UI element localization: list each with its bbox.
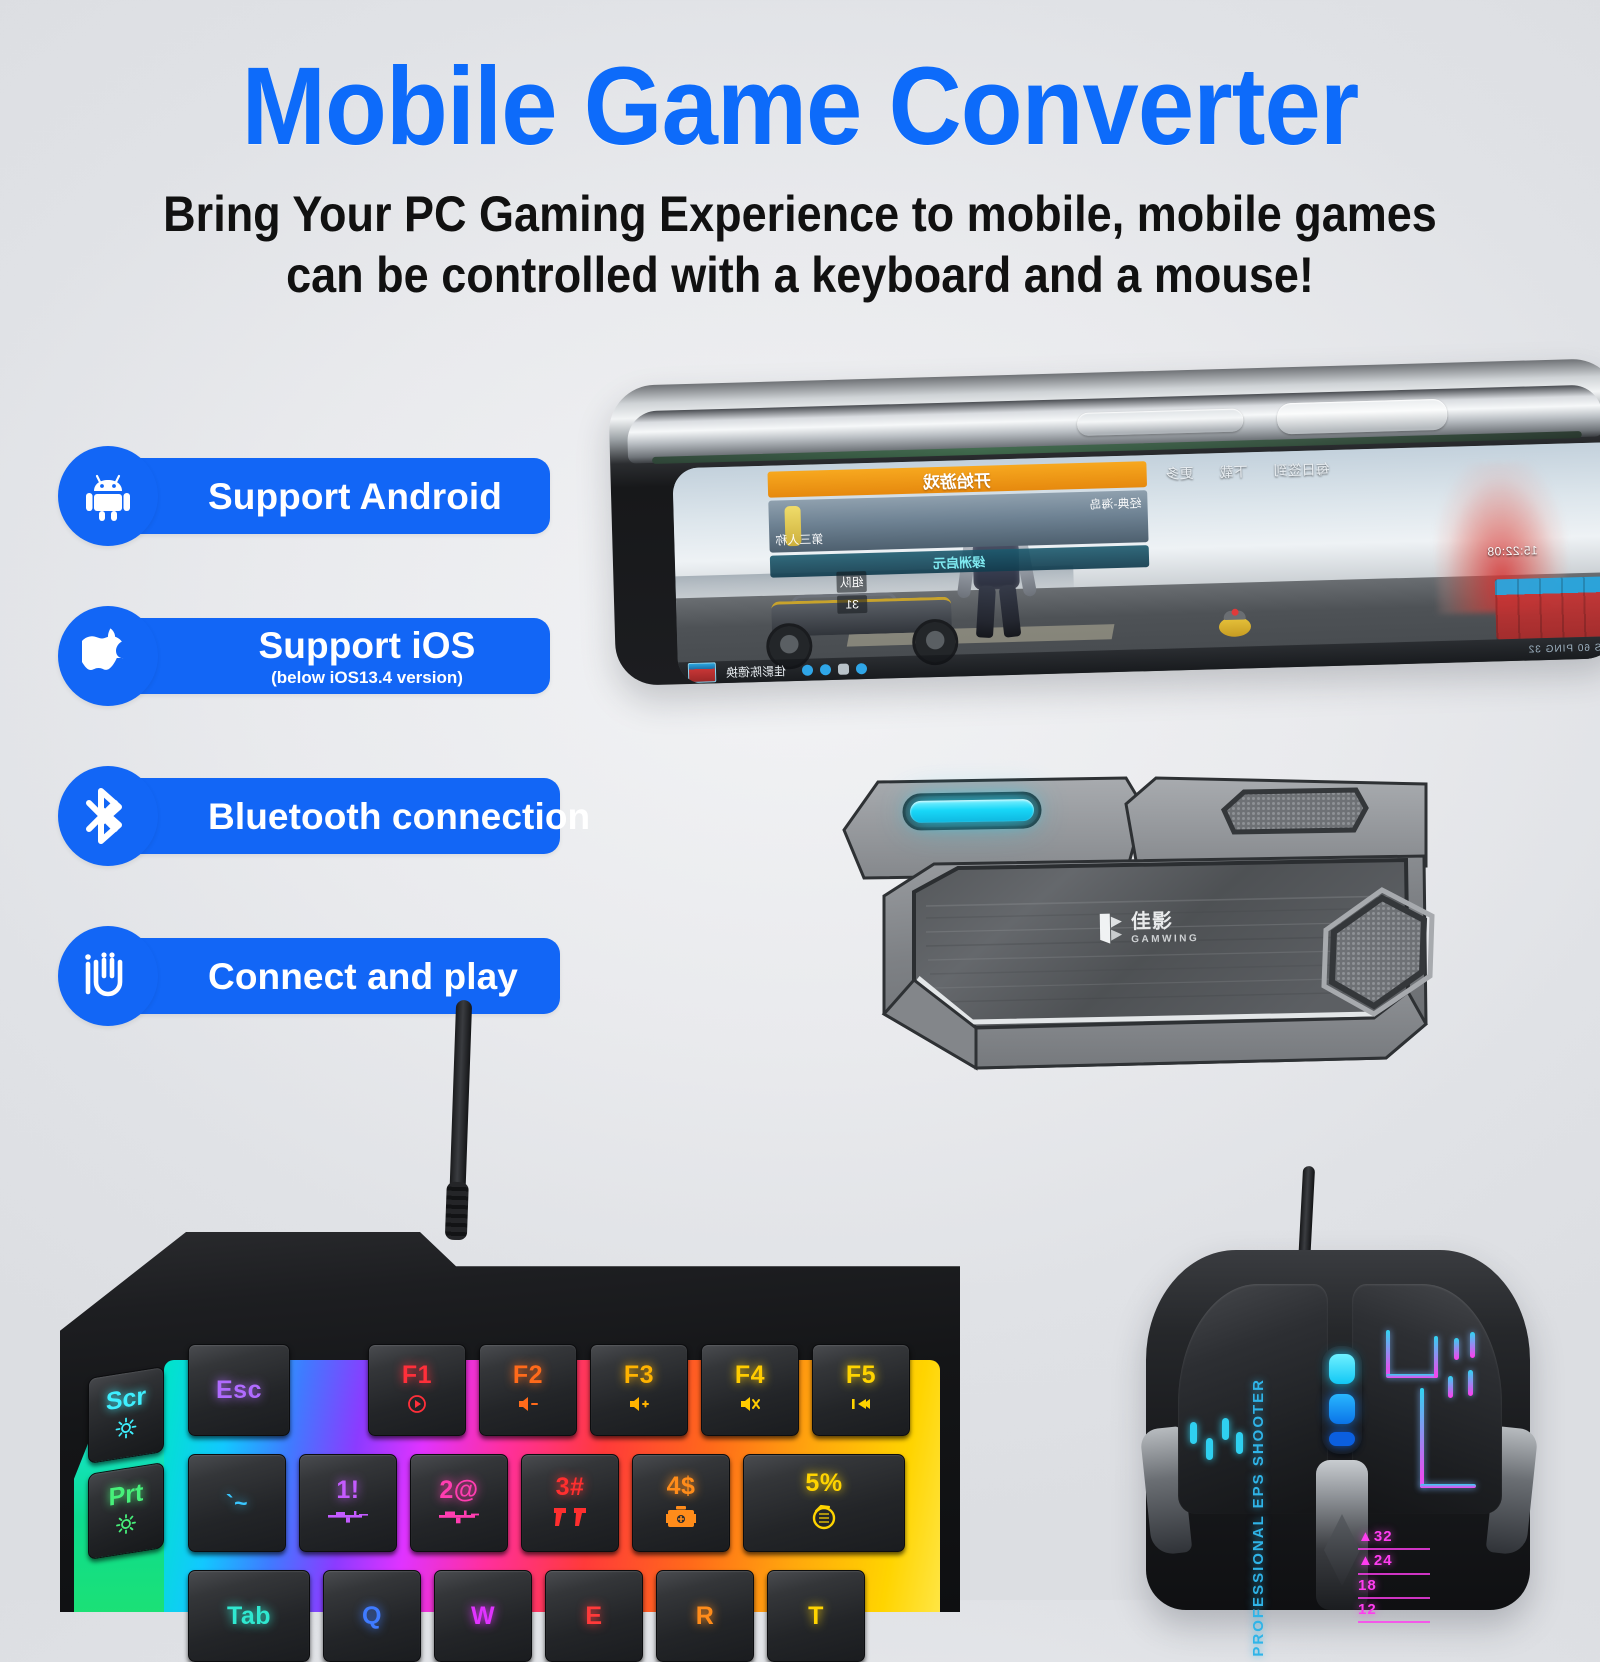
brightness-down-icon (115, 1511, 137, 1540)
game-lobby-panel[interactable]: 开始游戏 经典-海岛 第三人称 绿洲启元 (767, 462, 1149, 576)
phone-screen: 开始游戏 经典-海岛 第三人称 绿洲启元 更多 下载 (672, 442, 1600, 684)
hud-stats: FPS 60 PING 32 (1527, 642, 1600, 655)
key-label: F4 (735, 1363, 765, 1388)
pistols-icon (550, 1506, 590, 1532)
brand-name-zh: 佳影 (1131, 911, 1199, 932)
key-f3[interactable]: F3 (590, 1344, 688, 1436)
game-converter-device: 佳影 GAMWING (826, 756, 1436, 1106)
key-label: 1! (336, 1478, 359, 1503)
keyboard-row-letters: Tab Q W E R T (188, 1570, 865, 1662)
map-card[interactable]: 经典-海岛 第三人称 (768, 491, 1148, 554)
badge-sublabel: (below iOS13.4 version) (271, 669, 463, 686)
key-f1[interactable]: F1 (368, 1344, 466, 1436)
clan-crest-icon (688, 662, 717, 683)
rifle-icon (326, 1509, 370, 1529)
feature-badge-list: Support Android (58, 446, 578, 1086)
brightness-up-icon (115, 1415, 137, 1444)
keyboard-row-function: Esc F1 F2 F3 F4 (188, 1344, 910, 1436)
key-label: 4$ (667, 1474, 696, 1499)
badge-label: Bluetooth connection (208, 798, 534, 835)
key-r[interactable]: R (656, 1570, 754, 1662)
apple-icon (58, 606, 158, 706)
led-circuit-trace (1382, 1330, 1492, 1490)
volume-up-icon (627, 1394, 651, 1418)
dpi-level-18: 18 (1358, 1575, 1430, 1599)
key-gap (303, 1344, 355, 1436)
subtitle-line-1: Bring Your PC Gaming Experience to mobil… (134, 184, 1466, 245)
team-indicator: 组队 31 (836, 571, 867, 617)
start-game-label: 开始游戏 (923, 466, 992, 493)
key-e[interactable]: E (545, 1570, 643, 1662)
subtitle-line-2: can be controlled with a keyboard and a … (134, 245, 1466, 306)
nav-item-more[interactable]: 更多 (1165, 462, 1194, 483)
nav-item-daily-checkin[interactable]: 每日签到 (1273, 459, 1330, 481)
mute-icon (738, 1394, 762, 1418)
brand-name-en: GAMWING (1131, 934, 1199, 945)
dpi-level-12: 12 (1358, 1599, 1430, 1623)
key-label: Esc (216, 1378, 262, 1403)
key-label: 2@ (439, 1478, 478, 1503)
key-label: Tab (227, 1604, 271, 1629)
nav-item-download[interactable]: 下载 (1219, 461, 1248, 482)
badge-pill: Support iOS (below iOS13.4 version) (120, 618, 550, 694)
key-label: W (471, 1604, 495, 1629)
key-2[interactable]: 2@ (410, 1454, 508, 1552)
hud-icon-settings[interactable] (856, 663, 867, 674)
badge-pill: Connect and play (120, 938, 560, 1014)
poster-canvas: Mobile Game Converter Bring Your PC Gami… (0, 0, 1600, 1600)
page-title: Mobile Game Converter (64, 52, 1536, 162)
hud-icon-friends[interactable] (820, 664, 831, 675)
rifle-icon (437, 1509, 481, 1529)
team-label: 组队 (836, 571, 867, 593)
supply-crates (1494, 576, 1600, 639)
key-q[interactable]: Q (323, 1570, 421, 1662)
dpi-level-indicator: ▲32 ▲24 18 12 (1358, 1526, 1430, 1623)
volume-down-icon (516, 1394, 540, 1418)
medkit-icon (666, 1505, 696, 1533)
badge-pill: Support Android (120, 458, 550, 534)
feature-badge-connect-and-play[interactable]: Connect and play (58, 926, 578, 1026)
key-label: 3# (556, 1475, 585, 1500)
feature-badge-bluetooth[interactable]: Bluetooth connection (58, 766, 578, 866)
key-label: T (808, 1604, 824, 1629)
key-label: Scr (106, 1384, 146, 1415)
phone-device: 开始游戏 经典-海岛 第三人称 绿洲启元 更多 下载 (608, 358, 1600, 686)
key-w[interactable]: W (434, 1570, 532, 1662)
gamwing-mark-icon (1098, 911, 1125, 945)
side-key-column: Scr Prt (88, 1372, 174, 1564)
key-5[interactable]: 5% (743, 1454, 905, 1552)
header: Mobile Game Converter Bring Your PC Gami… (0, 52, 1600, 306)
key-scroll-lock[interactable]: Scr (88, 1366, 164, 1464)
grenade-icon (809, 1502, 839, 1536)
badge-label: Support Android (208, 478, 524, 515)
power-button[interactable] (1277, 399, 1448, 435)
key-label: F1 (402, 1363, 432, 1388)
team-count: 31 (837, 595, 867, 614)
plug-and-play-icon (58, 926, 158, 1026)
dpi-level-24: ▲24 (1358, 1550, 1430, 1574)
mouse-shell: PROFESSIONAL EPS SHOOTER ▲32 (1146, 1250, 1530, 1610)
keyboard-row-number: `~ 1! 2@ 3# 4$ (188, 1454, 905, 1552)
key-label: `~ (226, 1492, 248, 1515)
map-title: 经典-海岛 (1089, 495, 1141, 513)
key-f5[interactable]: F5 (812, 1344, 910, 1436)
key-label: F5 (846, 1363, 876, 1388)
led-dot-cluster-left (1190, 1416, 1250, 1472)
key-esc[interactable]: Esc (188, 1344, 290, 1436)
player-name: 佳影陈德换 (726, 662, 786, 681)
android-icon (58, 446, 158, 546)
page-subtitle: Bring Your PC Gaming Experience to mobil… (80, 184, 1520, 306)
play-icon (407, 1394, 427, 1418)
mouse-side-text: PROFESSIONAL EPS SHOOTER (1250, 1378, 1267, 1657)
mode-label: 绿洲启元 (933, 552, 986, 572)
dpi-level-32: ▲32 (1358, 1526, 1430, 1550)
prev-track-icon (849, 1394, 873, 1418)
key-t[interactable]: T (767, 1570, 865, 1662)
key-3[interactable]: 3# (521, 1454, 619, 1552)
badge-pill: Bluetooth connection (120, 778, 560, 854)
brand-logo: 佳影 GAMWING (1098, 910, 1200, 946)
badge-label: Connect and play (208, 958, 534, 995)
key-tab[interactable]: Tab (188, 1570, 310, 1662)
status-led-indicator (910, 799, 1034, 823)
phone-frame: 开始游戏 经典-海岛 第三人称 绿洲启元 更多 下载 (608, 358, 1600, 686)
key-label: E (585, 1604, 602, 1629)
key-f4[interactable]: F4 (701, 1344, 799, 1436)
bluetooth-icon (58, 766, 158, 866)
game-pet (1217, 608, 1254, 639)
key-f2[interactable]: F2 (479, 1344, 577, 1436)
feature-badge-ios[interactable]: Support iOS (below iOS13.4 version) (58, 606, 578, 706)
key-label: Prt (109, 1480, 144, 1511)
key-label: F3 (624, 1363, 654, 1388)
key-print-screen[interactable]: Prt (88, 1462, 164, 1560)
feature-badge-android[interactable]: Support Android (58, 446, 578, 546)
key-label: R (696, 1604, 715, 1629)
key-label: 5% (805, 1471, 842, 1496)
key-4[interactable]: 4$ (632, 1454, 730, 1552)
badge-label: Support iOS (259, 627, 476, 664)
key-1[interactable]: 1! (299, 1454, 397, 1552)
map-subtitle: 第三人称 (775, 531, 823, 549)
key-backtick[interactable]: `~ (188, 1454, 286, 1552)
mouse-scroll-wheel[interactable] (1322, 1346, 1362, 1454)
hud-icon-inventory[interactable] (838, 663, 849, 674)
gaming-mouse: PROFESSIONAL EPS SHOOTER ▲32 (1128, 1222, 1548, 1602)
game-timer: 15:22:08 (1487, 544, 1538, 559)
hud-icon-group[interactable] (802, 663, 867, 676)
gaming-keypad: Scr Prt Esc F1 (60, 1186, 960, 1606)
key-label: F2 (513, 1363, 543, 1388)
volume-button[interactable] (1077, 408, 1244, 436)
key-label: Q (362, 1604, 382, 1629)
hud-icon-profile[interactable] (802, 664, 813, 675)
